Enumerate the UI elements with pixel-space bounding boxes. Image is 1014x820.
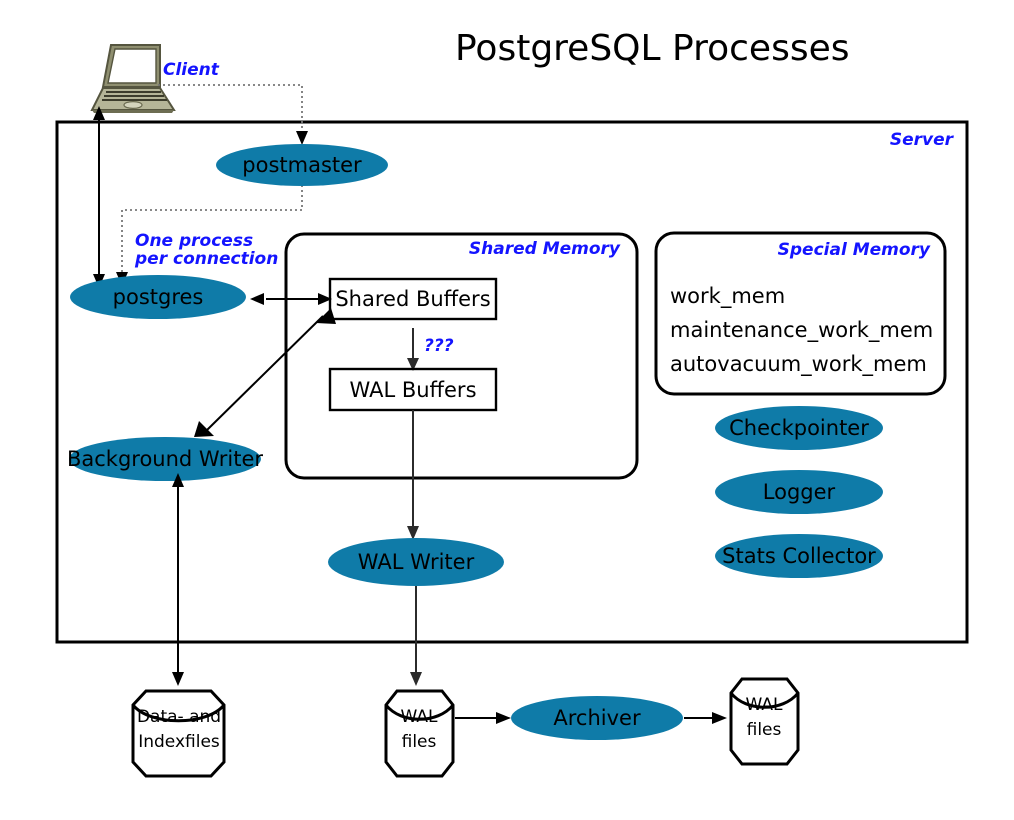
arrowhead-to-archive (712, 712, 727, 724)
client-label: Client (163, 60, 220, 80)
archiver-label: Archiver (553, 706, 641, 730)
shared-memory-label: Shared Memory (469, 239, 621, 259)
arrowhead-to-archiver (496, 712, 511, 724)
wal-buffers-label: WAL Buffers (349, 378, 476, 402)
postmaster-label: postmaster (242, 153, 362, 177)
process-postmaster[interactable]: postmaster (216, 144, 388, 186)
process-stats-collector[interactable]: Stats Collector (715, 534, 883, 578)
diagram-canvas: PostgreSQL Processes Server Client (0, 0, 1014, 820)
wal-writer-label: WAL Writer (358, 550, 475, 574)
postgresql-processes-diagram: PostgreSQL Processes Server Client (0, 0, 1014, 820)
shared-buffers-label: Shared Buffers (335, 287, 490, 311)
wal-files-archive-line1: WAL (746, 695, 784, 715)
server-label: Server (890, 130, 955, 150)
data-index-files-line2: Indexfiles (138, 732, 220, 752)
storage-wal-files: WAL files (386, 691, 453, 776)
postgres-label: postgres (113, 285, 204, 309)
logger-label: Logger (763, 480, 836, 504)
wal-files-line2: files (402, 732, 437, 752)
wal-files-line1: WAL (401, 707, 439, 727)
connector-client-to-postmaster (158, 85, 302, 132)
one-process-label-line1: One process (135, 231, 253, 251)
arrowhead-to-datafiles (172, 672, 184, 686)
storage-data-index-files: Data- and Indexfiles (133, 691, 224, 776)
checkpointer-label: Checkpointer (729, 416, 869, 440)
connector-bgwriter-shared-buffers (207, 316, 323, 430)
page-title: PostgreSQL Processes (455, 28, 850, 69)
storage-wal-files-archive: WAL files (731, 679, 798, 764)
process-archiver[interactable]: Archiver (511, 696, 683, 740)
wal-files-archive-line2: files (747, 720, 782, 740)
special-memory-item-2: autovacuum_work_mem (670, 352, 927, 377)
process-background-writer[interactable]: Background Writer (67, 437, 263, 481)
special-memory-item-0: work_mem (670, 284, 785, 309)
process-logger[interactable]: Logger (715, 470, 883, 514)
special-memory-label: Special Memory (778, 240, 931, 260)
stats-collector-label: Stats Collector (722, 544, 876, 568)
laptop-icon (92, 45, 174, 113)
arrowhead-to-postgres-sb (250, 293, 264, 305)
data-index-files-line1: Data- and (137, 707, 221, 727)
process-postgres[interactable]: postgres (70, 275, 246, 319)
one-process-label-line2: per connection (134, 249, 278, 269)
arrowhead-to-walfiles (410, 672, 422, 686)
arrowhead-to-wal-writer (407, 526, 419, 540)
process-checkpointer[interactable]: Checkpointer (715, 406, 883, 450)
background-writer-label: Background Writer (67, 447, 263, 471)
arrowhead-to-bgwriter (194, 421, 214, 437)
arrowhead-to-shared-buffers-diag (316, 308, 336, 324)
unknown-link-label: ??? (424, 336, 454, 356)
arrowhead-client-postmaster (296, 131, 308, 145)
process-wal-writer[interactable]: WAL Writer (328, 538, 504, 586)
shared-memory-boundary (286, 234, 637, 478)
special-memory-item-1: maintenance_work_mem (670, 318, 933, 343)
